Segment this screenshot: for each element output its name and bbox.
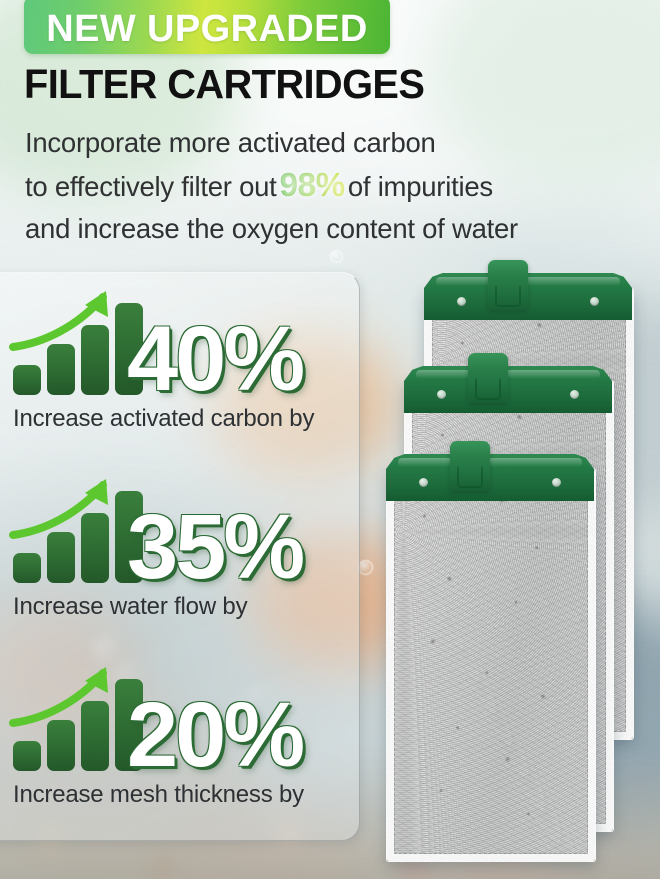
stat-row: 35%: [1, 477, 353, 589]
subcopy-line-1: Incorporate more activated carbon: [25, 122, 518, 164]
frame-highlight: [398, 458, 581, 467]
cartridge-center-tab: [450, 441, 490, 491]
cartridge-center-tab: [468, 353, 508, 403]
stat-caption: Increase mesh thickness by: [13, 781, 304, 809]
stat-value: 35%: [127, 501, 302, 593]
frame-highlight: [436, 277, 619, 286]
rivet-icon: [590, 297, 599, 306]
growth-arrow-icon: [7, 663, 147, 771]
stat-item: 40% Increase activated carbon by: [1, 289, 353, 441]
stat-value: 20%: [127, 689, 302, 781]
stat-item: 20% Increase mesh thickness by: [1, 665, 353, 817]
badge-label: NEW UPGRADED: [24, 10, 390, 48]
subcopy-line-2-after: of impurities: [348, 171, 493, 202]
product-marketing-poster: NEW UPGRADED FILTER CARTRIDGES Incorpora…: [0, 0, 660, 879]
growth-arrow-icon: [7, 287, 147, 395]
stat-caption: Increase water flow by: [13, 593, 247, 621]
rivet-icon: [570, 390, 579, 399]
subcopy-line-3: and increase the oxygen content of water: [25, 208, 518, 250]
subcopy-line-2-before: to effectively filter out: [25, 171, 277, 202]
stat-row: 20%: [1, 665, 353, 777]
stat-row: 40%: [1, 289, 353, 401]
new-upgraded-badge: NEW UPGRADED: [24, 0, 390, 54]
page-title: FILTER CARTRIDGES: [24, 63, 424, 106]
bar-chart-growth-icon: [11, 475, 139, 583]
filter-cartridge-pad: [386, 468, 596, 862]
rivet-icon: [552, 478, 561, 487]
growth-arrow-icon: [7, 475, 147, 583]
stats-panel: 40% Increase activated carbon by 35%: [0, 272, 360, 841]
rivet-icon: [457, 297, 466, 306]
rivet-icon: [419, 478, 428, 487]
stat-item: 35% Increase water flow by: [1, 477, 353, 629]
frame-highlight: [416, 370, 599, 379]
subcopy: Incorporate more activated carbon to eff…: [25, 122, 518, 250]
bar-chart-growth-icon: [11, 663, 139, 771]
cartridge-green-frame: [386, 454, 594, 501]
stat-value: 40%: [127, 313, 302, 405]
highlight-98-percent: 98%: [277, 166, 348, 203]
cartridge-green-frame: [404, 366, 612, 413]
bar-chart-growth-icon: [11, 287, 139, 395]
cartridge-green-frame: [424, 273, 632, 320]
cartridge-center-tab: [488, 260, 528, 310]
stat-caption: Increase activated carbon by: [13, 405, 314, 433]
subcopy-line-2: to effectively filter out98%of impuritie…: [25, 164, 518, 208]
rivet-icon: [437, 390, 446, 399]
